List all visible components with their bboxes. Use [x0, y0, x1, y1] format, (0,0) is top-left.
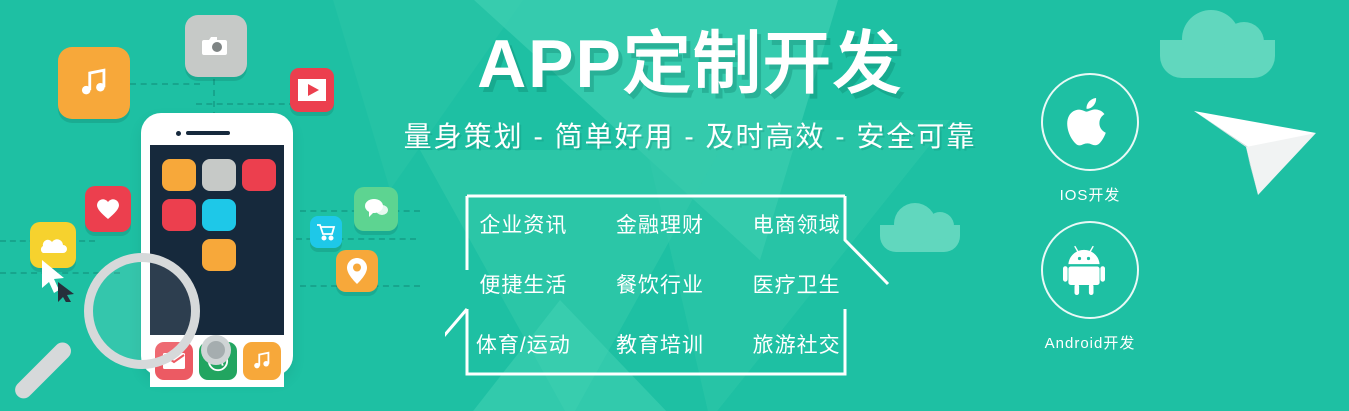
music-icon — [243, 342, 281, 380]
music-icon — [58, 47, 130, 119]
heart-glyph — [96, 198, 120, 220]
page-title: APP定制开发 — [380, 28, 1000, 101]
phone-home-button — [201, 335, 231, 365]
app-development-banner: APP定制开发 量身策划 - 简单好用 - 及时高效 - 安全可靠 企业资讯 金… — [0, 0, 1349, 411]
platform-ios-label: IOS开发 — [1010, 184, 1170, 205]
paper-plane-icon — [1190, 95, 1320, 200]
category-item[interactable]: 旅游社交 — [753, 329, 841, 359]
category-list: 企业资讯 金融理财 电商领域 便捷生活 餐饮行业 医疗卫生 体育/运动 教育培训… — [455, 194, 865, 374]
music-note-glyph — [77, 66, 111, 100]
category-item[interactable]: 教育培训 — [616, 329, 704, 359]
location-pin-icon — [336, 250, 378, 292]
apple-icon — [1066, 94, 1114, 150]
platform-ios-circle — [1041, 73, 1139, 171]
app-icon-red — [242, 159, 276, 191]
headline-block: APP定制开发 量身策划 - 简单好用 - 及时高效 - 安全可靠 — [380, 28, 1000, 155]
category-item[interactable]: 医疗卫生 — [753, 269, 841, 299]
app-icon-orange — [162, 159, 196, 191]
app-icon-orange-2 — [202, 239, 236, 271]
category-item[interactable]: 餐饮行业 — [616, 269, 704, 299]
category-item[interactable]: 企业资讯 — [479, 209, 567, 239]
category-item[interactable]: 便捷生活 — [479, 269, 567, 299]
heart-icon — [85, 186, 131, 232]
app-icon-gray — [202, 159, 236, 191]
play-glyph — [297, 78, 327, 102]
category-item[interactable]: 电商领域 — [753, 209, 841, 239]
platform-android[interactable]: Android开发 — [1010, 221, 1170, 353]
chat-icon — [354, 187, 398, 231]
category-item[interactable]: 体育/运动 — [476, 329, 571, 359]
phone-speaker — [186, 131, 230, 135]
platform-android-circle — [1041, 221, 1139, 319]
android-icon — [1063, 243, 1117, 297]
chat-bubble-glyph — [363, 197, 389, 221]
platform-ios[interactable]: IOS开发 — [1010, 73, 1170, 205]
app-icon-red-2 — [162, 199, 196, 231]
cart-icon — [310, 216, 342, 248]
cloud-glyph — [39, 236, 67, 254]
music-notes-glyph — [251, 350, 273, 372]
camera-icon — [185, 15, 247, 77]
phone-camera-dot — [176, 131, 181, 136]
pin-glyph — [347, 258, 367, 284]
dashed-line — [130, 83, 200, 85]
magnifier-icon — [84, 253, 200, 369]
cart-glyph — [316, 223, 336, 241]
camera-glyph — [201, 33, 231, 59]
page-subtitle: 量身策划 - 简单好用 - 及时高效 - 安全可靠 — [380, 115, 1000, 155]
app-icon-cyan — [202, 199, 236, 231]
magnifier-handle — [12, 339, 75, 402]
cursor-icon — [40, 258, 76, 302]
phone-illustration — [0, 0, 430, 411]
cloud-shape-top-right — [1160, 40, 1275, 78]
platform-android-label: Android开发 — [1010, 332, 1170, 353]
category-item[interactable]: 金融理财 — [616, 209, 704, 239]
video-icon — [290, 68, 334, 112]
